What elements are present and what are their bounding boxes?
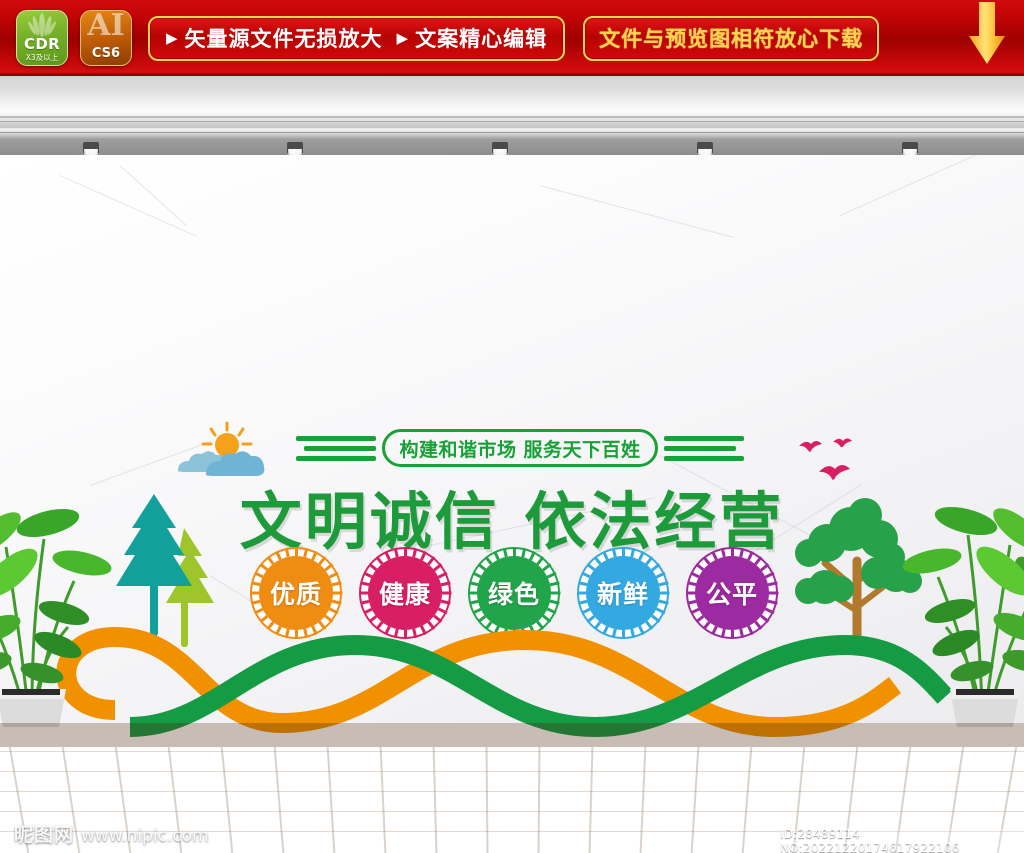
floor-plank-line	[486, 747, 489, 853]
ceiling-spotlight	[492, 142, 508, 153]
ai-badge: AI CS6	[80, 10, 132, 66]
watermark-id-bar: ID:28489114 NO:20221220174617922106	[780, 829, 1024, 853]
image-id-text: ID:28489114 NO:20221220174617922106	[780, 827, 1024, 853]
floor-plank-line	[538, 747, 541, 853]
value-label: 新鲜	[597, 575, 649, 611]
watermark-url: www.nipic.com	[81, 826, 209, 846]
feature-pill-download[interactable]: 文件与预览图相符放心下载	[583, 16, 879, 61]
wooden-floor: 昵图网 www.nipic.com ID:28489114 NO:2022122…	[0, 723, 1024, 853]
watermark-brand: 昵图网	[14, 820, 74, 847]
floor-seam	[0, 791, 1024, 792]
dash-decor-right	[664, 436, 744, 461]
ai-letter-icon: AI	[81, 11, 131, 41]
watermark-left: 昵图网 www.nipic.com	[14, 820, 209, 847]
subtitle-text: 构建和谐市场 服务天下百姓	[399, 435, 640, 462]
culture-wall: 构建和谐市场 服务天下百姓 文明诚信 依法经营	[0, 155, 1024, 723]
ceiling-spotlight	[287, 142, 303, 153]
dash-decor-left	[296, 436, 376, 461]
subtitle-pill: 构建和谐市场 服务天下百姓	[382, 429, 657, 467]
potted-plant-left	[0, 477, 116, 727]
feature-text-download: 文件与预览图相符放心下载	[599, 23, 863, 53]
floor-seam	[0, 751, 1024, 752]
ceiling-spotlight	[697, 142, 713, 153]
cdr-badge-version: X3及以上	[26, 53, 58, 62]
feature-text-copy: 文案精心编辑	[415, 23, 547, 53]
triangle-bullet-icon-2: ▶	[397, 29, 409, 47]
cdr-badge: CDR X3及以上	[16, 10, 68, 66]
subtitle-row: 构建和谐市场 服务天下百姓	[256, 427, 784, 469]
floor-plank-line	[640, 747, 647, 853]
value-label: 优质	[270, 575, 322, 611]
feature-text-vector: 矢量源文件无损放大	[185, 23, 383, 53]
floor-plank-line	[589, 747, 594, 853]
floor-seam	[0, 771, 1024, 772]
floor-plank-line	[274, 747, 285, 853]
potted-plant-right	[898, 477, 1024, 727]
floor-plank-line	[433, 747, 438, 853]
value-label: 公平	[706, 575, 758, 611]
ai-badge-version: CS6	[92, 46, 120, 62]
cdr-badge-title: CDR	[24, 37, 60, 53]
feature-pill-vector[interactable]: ▶ 矢量源文件无损放大 ▶ 文案精心编辑	[148, 16, 565, 61]
promo-banner: CDR X3及以上 AI CS6 ▶ 矢量源文件无损放大 ▶ 文案精心编辑 文件…	[0, 0, 1024, 76]
ceiling	[0, 76, 1024, 155]
floor-seam	[0, 811, 1024, 812]
floor-plank-line	[327, 747, 336, 853]
download-arrow-icon	[966, 2, 1008, 74]
floor-plank-line	[221, 747, 234, 853]
triangle-bullet-icon: ▶	[166, 29, 178, 47]
floor-plank-line	[742, 747, 753, 853]
floor-plank-line	[691, 747, 700, 853]
value-label: 绿色	[488, 575, 540, 611]
floor-plank-line	[380, 747, 387, 853]
value-label: 健康	[379, 575, 431, 611]
ceiling-spotlight	[83, 142, 99, 153]
screenshot-root: CDR X3及以上 AI CS6 ▶ 矢量源文件无损放大 ▶ 文案精心编辑 文件…	[0, 0, 1024, 853]
ceiling-spotlight	[902, 142, 918, 153]
